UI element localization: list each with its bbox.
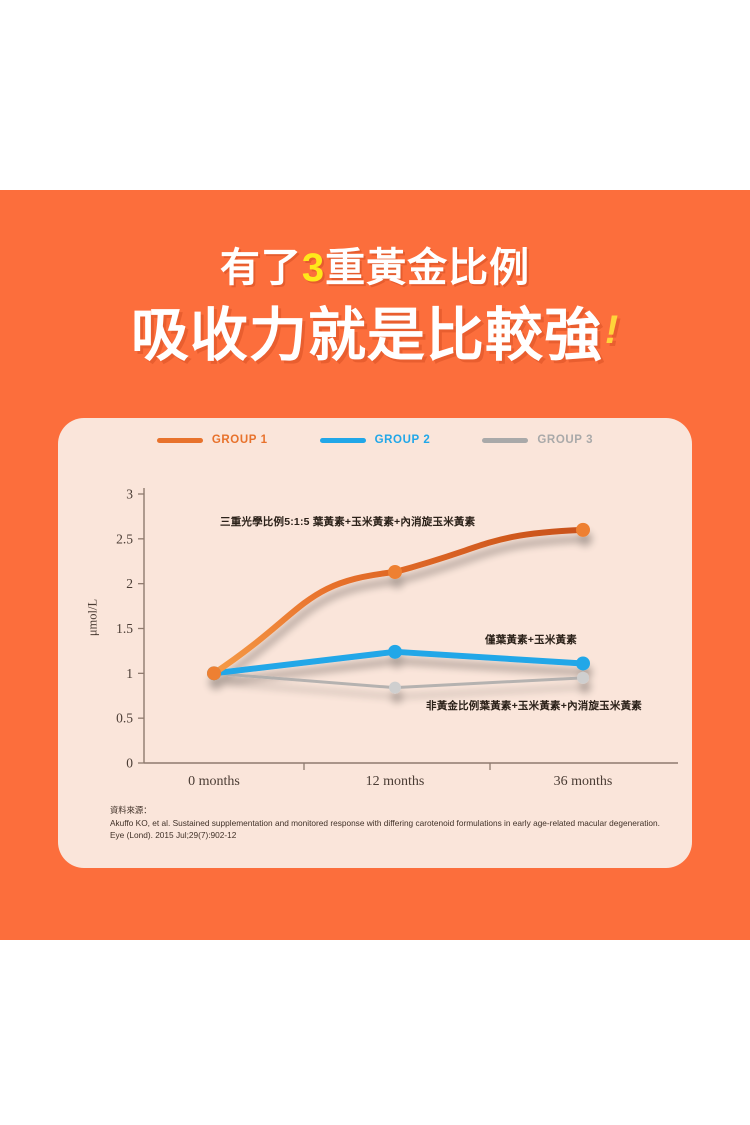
headline-line-1: 有了3重黃金比例 [0,243,750,293]
y-tick-label: 3 [126,487,133,502]
headline-exclamation: ! [605,308,619,352]
y-tick-label: 0.5 [116,711,133,726]
y-tick-label: 2.5 [116,531,133,546]
x-tick-label: 0 months [188,774,240,789]
data-point-group-2-12-months [388,645,402,659]
headline-highlight-number: 3 [302,246,325,290]
x-tick-label: 12 months [366,774,425,789]
data-point-group-3-12-months [389,682,401,694]
headline-line1-part1: 有了 [220,246,302,290]
chart-card: GROUP 1 GROUP 2 GROUP 3 00.511.522.530 m… [58,418,692,868]
y-axis-title: μmol/L [86,573,101,663]
annotation-group-3: 非黃金比例葉黃素+玉米黃素+內消旋玉米黃素 [426,698,642,713]
headline-line-2: 吸收力就是比較強! [0,297,750,369]
source-heading: 資料來源： [110,804,670,816]
y-tick-label: 0 [126,756,133,771]
data-point-group-1-12-months [388,565,402,579]
source-citation-block: 資料來源： Akuffo KO, et al. Sustained supple… [110,804,670,841]
x-tick-label: 36 months [554,774,613,789]
data-point-group-1-36-months [576,523,590,537]
data-point-group-3-36-months [577,672,589,684]
y-tick-label: 2 [126,576,133,591]
line-chart-svg: 00.511.522.530 months12 months36 months [58,418,692,868]
chart-plot-area: 00.511.522.530 months12 months36 months [58,418,692,868]
data-point-group-1-0-months [207,666,221,680]
infographic-page: 有了3重黃金比例 吸收力就是比較強! GROUP 1 GROUP 2 GROUP… [0,0,750,1125]
headline-line2-text: 吸收力就是比較強 [131,303,603,368]
annotation-group-1: 三重光學比例5:1:5 葉黃素+玉米黃素+內消旋玉米黃素 [220,514,475,529]
y-tick-label: 1.5 [116,621,133,636]
y-tick-label: 1 [126,666,133,681]
annotation-group-2: 僅葉黃素+玉米黃素 [485,632,577,647]
source-text: Akuffo KO, et al. Sustained supplementat… [110,817,670,841]
headline-line1-part2: 重黃金比例 [325,246,530,290]
headline-block: 有了3重黃金比例 吸收力就是比較強! [0,243,750,369]
data-point-group-2-36-months [576,656,590,670]
series-group [207,523,590,694]
